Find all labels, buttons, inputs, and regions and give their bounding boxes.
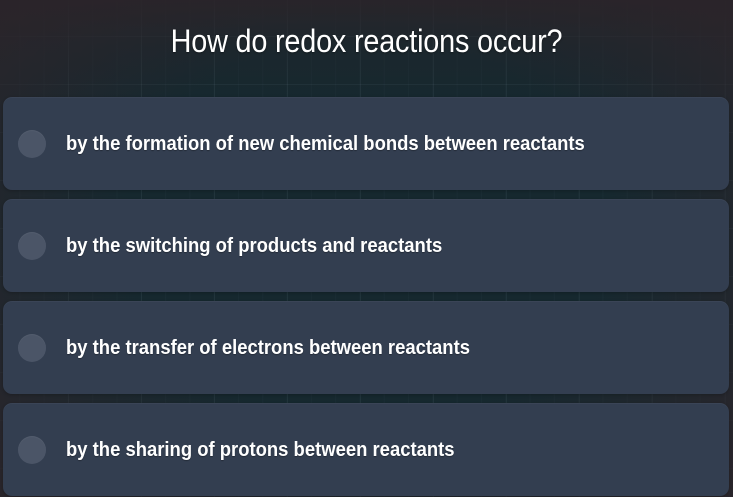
answer-option-a-label: by the formation of new chemical bonds b… <box>66 131 585 157</box>
question-title: How do redox reactions occur? <box>37 20 697 62</box>
answer-option-c-label: by the transfer of electrons between rea… <box>66 335 470 361</box>
radio-unselected-icon[interactable] <box>18 436 46 464</box>
radio-unselected-icon[interactable] <box>18 232 46 260</box>
quiz-screen: How do redox reactions occur? by the for… <box>0 0 733 497</box>
radio-unselected-icon[interactable] <box>18 130 46 158</box>
answer-options-list: by the formation of new chemical bonds b… <box>3 97 729 496</box>
answer-option-a[interactable]: by the formation of new chemical bonds b… <box>3 97 729 190</box>
answer-option-d[interactable]: by the sharing of protons between reacta… <box>3 403 729 496</box>
quiz-content: How do redox reactions occur? by the for… <box>0 0 733 497</box>
answer-option-d-label: by the sharing of protons between reacta… <box>66 437 455 463</box>
radio-unselected-icon[interactable] <box>18 334 46 362</box>
answer-option-b-label: by the switching of products and reactan… <box>66 233 442 259</box>
answer-option-c[interactable]: by the transfer of electrons between rea… <box>3 301 729 394</box>
answer-option-b[interactable]: by the switching of products and reactan… <box>3 199 729 292</box>
